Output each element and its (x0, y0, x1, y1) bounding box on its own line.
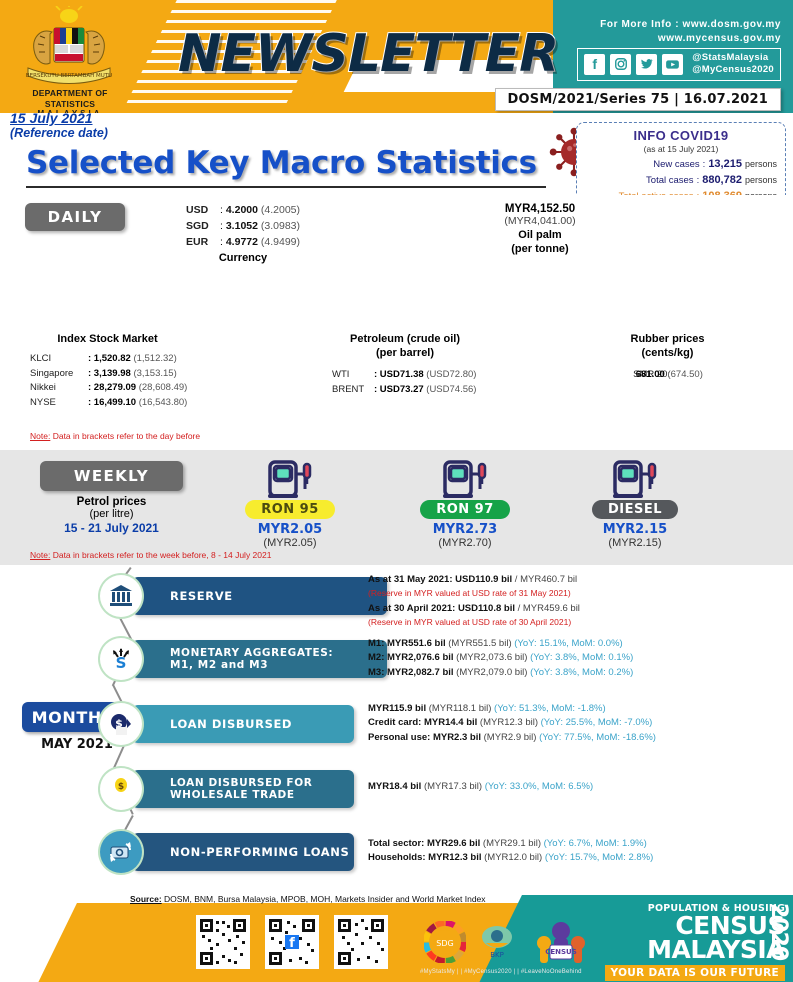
timeline-value-change: (YoY: 51.3%, MoM: -1.8%) (494, 703, 606, 714)
fuel-price: MYR2.73 (400, 522, 530, 537)
series-tab: DOSM/2021/Series 75 | 16.07.2021 (495, 88, 781, 111)
timeline-value-main: M3: MYR2,082.7 bil (368, 667, 454, 678)
currency-row: EUR: 4.9772 (4.9499) (186, 235, 300, 251)
timeline-value-line: (Reserve in MYR valued at USD rate of 31… (368, 587, 580, 601)
youtube-icon[interactable] (662, 54, 683, 75)
fuel-price-card: DIESELMYR2.15(MYR2.15) (570, 458, 700, 549)
qr-code-dosm[interactable] (196, 915, 250, 969)
covid-stat-row: New cases:13,215persons (577, 157, 777, 173)
census-line-3: MALAYSIA (587, 938, 785, 962)
twitter-icon[interactable] (636, 54, 657, 75)
sdg-wheel-icon: SDG (424, 921, 466, 963)
timeline-item[interactable]: RESERVE (100, 577, 395, 615)
timeline-values: Total sector: MYR29.6 bil (MYR29.1 bil) … (368, 837, 653, 866)
social-media-box: f @StatsMalaysia @MyCensus2020 (577, 48, 781, 81)
currency-prev: (3.0983) (261, 220, 300, 232)
svg-text:BKP: BKP (490, 951, 504, 959)
fuel-price-previous: (MYR2.70) (400, 537, 530, 549)
currency-rate: 4.2000 (226, 204, 258, 216)
reference-date-block: 15 July 2021 (Reference date) (10, 110, 108, 140)
handle-mycensus: @MyCensus2020 (692, 64, 774, 75)
timeline-value-line: MYR18.4 bil (MYR17.3 bil) (YoY: 33.0%, M… (368, 780, 593, 794)
timeline-item[interactable]: MONETARY AGGREGATES:M1, M2 and M3S (100, 640, 395, 678)
mystats-icon: BKP (476, 921, 518, 963)
rubber-values: SMR 20: 681.00 (674.50) (578, 368, 758, 383)
data-row: SMR 20: 681.00 (674.50) (578, 368, 758, 383)
qr-code-mycensus[interactable] (334, 915, 388, 969)
census-year: 2020 (768, 903, 787, 960)
row-value: : 16,499.10 (88, 397, 136, 408)
bank-reserve-icon (100, 575, 142, 617)
weekly-pill: WEEKLY (40, 461, 183, 491)
svg-text:f: f (289, 936, 295, 951)
timeline-values: MYR18.4 bil (MYR17.3 bil) (YoY: 33.0%, M… (368, 780, 593, 794)
timeline-value-previous: (MYR551.5 bil) (446, 638, 512, 649)
malaysia-coat-of-arms-icon: BERSEKUTU BERTAMBAH MUTU (14, 6, 124, 91)
fuel-price-previous: (MYR2.15) (570, 537, 700, 549)
wholesale-trade-loan-icon: $ (100, 768, 142, 810)
currency-prev: (4.9499) (261, 236, 300, 248)
weekly-section: WEEKLY Petrol prices (per litre) 15 - 21… (0, 450, 793, 565)
timeline-bar[interactable]: MONETARY AGGREGATES:M1, M2 and M3 (132, 640, 387, 678)
fuel-pump-icon (570, 458, 700, 500)
loan-disbursed-icon: $ (100, 703, 142, 745)
currency-code: EUR (186, 235, 220, 251)
currency-rate: 4.9772 (226, 236, 258, 248)
daily-note: Note: Data in brackets refer to the day … (30, 431, 200, 441)
covid-stat-unit: persons (745, 174, 777, 187)
currency-row: SGD: 3.1052 (3.0983) (186, 219, 300, 235)
daily-note-text: Data in brackets refer to the day before (53, 431, 200, 441)
more-info-line-1: For More Info : www.dosm.gov.my (600, 18, 781, 32)
instagram-icon[interactable] (610, 54, 631, 75)
currency-rate: 3.1052 (226, 220, 258, 232)
row-previous: (3,153.15) (133, 368, 176, 379)
timeline-value-main: Personal use: MYR2.3 bil (368, 732, 481, 743)
timeline-value-previous: (MYR17.3 bil) (421, 781, 482, 792)
fuel-pump-icon (400, 458, 530, 500)
fuel-price: MYR2.05 (225, 522, 355, 537)
fuel-type-badge: RON 97 (420, 500, 510, 519)
rubber-caption: Rubber prices (cents/kg) (580, 333, 755, 361)
data-row: WTI: USD71.38 (USD72.80) (332, 368, 476, 383)
timeline-value-main: Credit card: MYR14.4 bil (368, 717, 477, 728)
row-label: Singapore (30, 367, 88, 382)
fuel-price-card: RON 97MYR2.73(MYR2.70) (400, 458, 530, 549)
fuel-type-badge: RON 95 (245, 500, 335, 519)
timeline-value-line: Personal use: MYR2.3 bil (MYR2.9 bil) (Y… (368, 731, 656, 745)
petrol-period: 15 - 21 July 2021 (40, 521, 183, 535)
timeline-bar-label: RESERVE (170, 589, 233, 603)
timeline-bar-label: LOAN DISBURSED (170, 717, 292, 731)
petrol-prices-label: Petrol prices (per litre) 15 - 21 July 2… (40, 496, 183, 535)
timeline-value-previous: / MYR459.6 bil (515, 603, 580, 614)
timeline-value-previous: (MYR29.1 bil) (480, 838, 541, 849)
timeline-value-line: Total sector: MYR29.6 bil (MYR29.1 bil) … (368, 837, 653, 851)
census-tagline: YOUR DATA IS OUR FUTURE (605, 965, 785, 981)
timeline-value-main: As at 31 May 2021: USD110.9 bil (368, 574, 512, 585)
fuel-price-card: RON 95MYR2.05(MYR2.05) (225, 458, 355, 549)
rubber-caption-2: (cents/kg) (642, 347, 694, 359)
covid-stat-unit: persons (745, 158, 777, 171)
source-text: DOSM, BNM, Bursa Malaysia, MPOB, MOH, Ma… (162, 895, 486, 904)
timeline-value-line: M1: MYR551.6 bil (MYR551.5 bil) (YoY: 15… (368, 637, 633, 651)
social-handles: @StatsMalaysia @MyCensus2020 (692, 52, 774, 77)
monetary-aggregates-icon: S (100, 638, 142, 680)
covid-stat-label: Total cases (598, 174, 694, 188)
data-row: Nikkei: 28,279.09 (28,608.49) (30, 381, 187, 396)
covid-title: INFO COVID19 (577, 128, 785, 143)
row-value: : USD73.27 (374, 384, 424, 395)
row-label: BRENT (332, 383, 374, 398)
facebook-icon[interactable]: f (584, 54, 605, 75)
timeline-bar[interactable]: RESERVE (132, 577, 387, 615)
currency-code: USD (186, 203, 220, 219)
timeline-value-previous: (MYR2,073.6 bil) (454, 652, 528, 663)
covid-stat-colon: : (694, 174, 703, 188)
weekly-note-label: Note: (30, 550, 50, 560)
currency-code: SGD (186, 219, 220, 235)
timeline-value-main: As at 30 April 2021: USD110.8 bil (368, 603, 515, 614)
row-previous: (USD74.56) (426, 384, 476, 395)
timeline-bar[interactable]: NON-PERFORMING LOANS (132, 833, 354, 871)
svg-text:SDG: SDG (436, 939, 453, 948)
row-previous: (16,543.80) (139, 397, 188, 408)
data-row: KLCI: 1,520.82 (1,512.32) (30, 352, 187, 367)
timeline-value-line: MYR115.9 bil (MYR118.1 bil) (YoY: 51.3%,… (368, 702, 656, 716)
covid-stat-value: 13,215 (708, 157, 742, 173)
department-line-1: DEPARTMENT OF STATISTICS (10, 88, 130, 109)
more-info-line-2: www.mycensus.gov.my (600, 32, 781, 46)
row-label: Nikkei (30, 381, 88, 396)
covid-stat-label: New cases (604, 158, 700, 172)
timeline-value-line: As at 31 May 2021: USD110.9 bil / MYR460… (368, 573, 580, 587)
daily-note-label: Note: (30, 431, 50, 441)
timeline-bar-label: LOAN DISBURSED FORWHOLESALE TRADE (170, 777, 312, 801)
petroleum-caption-1: Petroleum (crude oil) (350, 333, 460, 345)
fuel-type-badge: DIESEL (592, 500, 678, 519)
fuel-price-previous: (MYR2.05) (225, 537, 355, 549)
covid-stat-colon: : (700, 158, 709, 172)
page-header: BERSEKUTU BERTAMBAH MUTU DEPARTMENT OF S… (0, 0, 793, 113)
timeline-value-previous: (MYR12.0 bil) (482, 852, 543, 863)
row-label: KLCI (30, 352, 88, 367)
timeline-value-note: (Reserve in MYR valued at USD rate of 30… (368, 617, 571, 627)
timeline-item[interactable]: LOAN DISBURSED$ (100, 705, 362, 743)
reference-date: 15 July 2021 (10, 110, 108, 126)
row-label: WTI (332, 368, 374, 383)
petroleum-caption-2: (per barrel) (376, 347, 434, 359)
timeline-values: MYR115.9 bil (MYR118.1 bil) (YoY: 51.3%,… (368, 702, 656, 745)
page-footer: Source: DOSM, BNM, Bursa Malaysia, MPOB,… (0, 895, 793, 982)
non-performing-loans-icon (100, 831, 142, 873)
timeline-value-line: (Reserve in MYR valued at USD rate of 30… (368, 616, 580, 630)
data-row: BRENT: USD73.27 (USD74.56) (332, 383, 476, 398)
currency-row: USD: 4.2000 (4.2005) (186, 203, 300, 219)
timeline-value-previous: (MYR118.1 bil) (426, 703, 491, 714)
qr-code-facebook[interactable]: f (265, 915, 319, 969)
timeline-bar-label: NON-PERFORMING LOANS (170, 845, 349, 859)
petrol-unit: (per litre) (40, 508, 183, 520)
timeline-bar[interactable]: LOAN DISBURSED (132, 705, 354, 743)
timeline-value-previous: (MYR2,079.0 bil) (454, 667, 528, 678)
footer-hashtags: #MyStatsMy | | #MyCensus2020 | | #LeaveN… (420, 969, 582, 975)
census-logo: POPULATION & HOUSING CENSUS MALAYSIA 202… (587, 903, 785, 981)
timeline-value-previous: (MYR12.3 bil) (477, 717, 538, 728)
rubber-caption-1: Rubber prices (631, 333, 705, 345)
timeline-value-note: (Reserve in MYR valued at USD rate of 31… (368, 588, 571, 598)
timeline-value-line: M3: MYR2,082.7 bil (MYR2,079.0 bil) (YoY… (368, 666, 633, 680)
timeline-value-change: (YoY: 33.0%, MoM: 6.5%) (485, 781, 593, 792)
row-label: NYSE (30, 396, 88, 411)
timeline-value-change: (YoY: 15.7%, MoM: 2.8%) (545, 852, 653, 863)
census-mascot-icon: CENSUS (530, 917, 592, 967)
svg-text:CENSUS: CENSUS (545, 948, 577, 956)
timeline-value-change: (YoY: 6.7%, MoM: 1.9%) (544, 838, 647, 849)
newsletter-page: BERSEKUTU BERTAMBAH MUTU DEPARTMENT OF S… (0, 0, 793, 982)
currency-prev: (4.2005) (261, 204, 300, 216)
row-previous: (28,608.49) (139, 382, 188, 393)
timeline-value-main: Households: MYR12.3 bil (368, 852, 482, 863)
timeline-item[interactable]: NON-PERFORMING LOANS (100, 833, 362, 871)
timeline-value-change: (YoY: 3.8%, MoM: 0.1%) (530, 652, 633, 663)
fuel-pump-icon (225, 458, 355, 500)
row-value: : USD71.38 (374, 369, 424, 380)
oil-palm-caption-1: Oil palm (518, 229, 561, 241)
petrol-title: Petrol prices (40, 496, 183, 508)
timeline-value-previous: (MYR2.9 bil) (481, 732, 536, 743)
timeline-bar[interactable]: LOAN DISBURSED FORWHOLESALE TRADE (132, 770, 354, 808)
title-divider (26, 186, 546, 188)
currency-caption: Currency (186, 252, 300, 264)
oil-palm-value: MYR4,152.50 (470, 203, 610, 215)
timeline-value-line: Credit card: MYR14.4 bil (MYR12.3 bil) (… (368, 716, 656, 730)
covid-subtitle: (as at 15 July 2021) (577, 144, 785, 154)
row-value: : 3,139.98 (88, 368, 131, 379)
petroleum-values: WTI: USD71.38 (USD72.80)BRENT: USD73.27 … (332, 368, 476, 397)
row-value: : 28,279.09 (88, 382, 136, 393)
timeline-bar-label: MONETARY AGGREGATES:M1, M2 and M3 (170, 647, 333, 671)
timeline-value-line: Households: MYR12.3 bil (MYR12.0 bil) (Y… (368, 851, 653, 865)
timeline-value-main: M2: MYR2,076.6 bil (368, 652, 454, 663)
petroleum-caption: Petroleum (crude oil) (per barrel) (315, 333, 495, 361)
reference-date-label: (Reference date) (10, 126, 108, 140)
row-value: : 1,520.82 (88, 353, 131, 364)
timeline-values: M1: MYR551.6 bil (MYR551.5 bil) (YoY: 15… (368, 637, 633, 680)
oil-palm-caption-2: (per tonne) (511, 243, 568, 255)
timeline-value-change: (YoY: 77.5%, MoM: -18.6%) (539, 732, 656, 743)
newsletter-wordmark: NEWSLETTER (178, 24, 558, 84)
daily-pill: DAILY (25, 203, 125, 231)
row-previous: (USD72.80) (426, 369, 476, 380)
timeline-value-line: As at 30 April 2021: USD110.8 bil / MYR4… (368, 602, 580, 616)
timeline-value-previous: / MYR460.7 bil (512, 574, 577, 585)
timeline-value-main: M1: MYR551.6 bil (368, 638, 446, 649)
data-row: NYSE: 16,499.10 (16,543.80) (30, 396, 187, 411)
currency-block: USD: 4.2000 (4.2005)SGD: 3.1052 (3.0983)… (186, 203, 300, 264)
oil-palm-prev: (MYR4,041.00) (470, 215, 610, 227)
fuel-price: MYR2.15 (570, 522, 700, 537)
stock-market-values: KLCI: 1,520.82 (1,512.32)Singapore: 3,13… (30, 352, 187, 411)
oil-palm-block: MYR4,152.50 (MYR4,041.00) Oil palm (per … (470, 203, 610, 257)
daily-section: DAILY USD: 4.2000 (4.2005)SGD: 3.1052 (3… (0, 195, 793, 450)
timeline-value-line: M2: MYR2,076.6 bil (MYR2,073.6 bil) (YoY… (368, 651, 633, 665)
svg-text:BERSEKUTU BERTAMBAH MUTU: BERSEKUTU BERTAMBAH MUTU (26, 73, 112, 79)
data-row: Singapore: 3,139.98 (3,153.15) (30, 367, 187, 382)
svg-text:$: $ (118, 782, 124, 792)
covid-stat-value: 880,782 (702, 173, 742, 189)
monthly-section: MONTHLY MAY 2021 RESERVEAs at 31 May 202… (0, 565, 793, 895)
timeline-value-main: MYR18.4 bil (368, 781, 421, 792)
weekly-note-text: Data in brackets refer to the week befor… (53, 550, 272, 560)
source-label: Source: (130, 895, 162, 904)
covid-stat-row: Total cases:880,782persons (577, 173, 777, 189)
timeline-value-change: (YoY: 15.1%, MoM: 0.0%) (514, 638, 622, 649)
row-value: 681.00 (633, 369, 665, 380)
stock-market-caption: Index Stock Market (25, 333, 190, 347)
timeline-value-main: MYR115.9 bil (368, 703, 426, 714)
source-line: Source: DOSM, BNM, Bursa Malaysia, MPOB,… (130, 895, 486, 904)
more-info-block: For More Info : www.dosm.gov.my www.myce… (600, 18, 781, 45)
weekly-note: Note: Data in brackets refer to the week… (30, 550, 271, 560)
timeline-value-main: Total sector: MYR29.6 bil (368, 838, 480, 849)
timeline-values: As at 31 May 2021: USD110.9 bil / MYR460… (368, 573, 580, 630)
page-title: Selected Key Macro Statistics (26, 145, 537, 181)
svg-text:S: S (116, 654, 127, 672)
row-previous: (674.50) (667, 369, 702, 380)
handle-stats-malaysia: @StatsMalaysia (692, 52, 768, 63)
timeline-value-change: (YoY: 3.8%, MoM: 0.2%) (530, 667, 633, 678)
row-previous: (1,512.32) (133, 353, 176, 364)
timeline-value-change: (YoY: 25.5%, MoM: -7.0%) (541, 717, 653, 728)
timeline-item[interactable]: LOAN DISBURSED FORWHOLESALE TRADE$ (100, 770, 362, 808)
